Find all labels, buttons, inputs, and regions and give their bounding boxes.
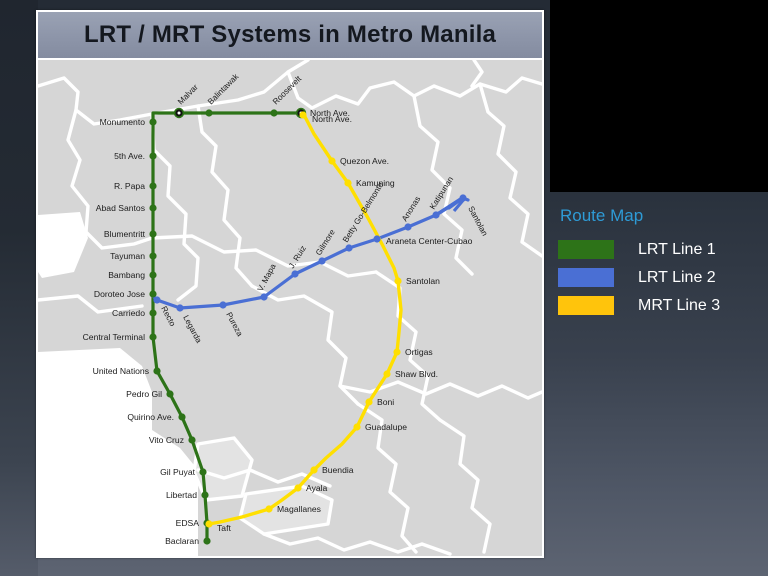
station-label: North Ave. [312,114,352,124]
station-label: Boni [377,397,394,407]
station-dot[interactable] [310,466,317,473]
station-dot[interactable] [294,484,301,491]
station-dot[interactable] [149,309,156,316]
station-dot[interactable] [176,304,183,311]
station-dot[interactable] [149,204,156,211]
station-dot[interactable] [219,301,226,308]
station-label: Abad Santos [96,203,145,213]
station-label: Gil Puyat [160,467,195,477]
station-dot[interactable] [205,109,212,116]
station-dot[interactable] [149,118,156,125]
station-dot[interactable] [373,235,380,242]
station-label: Buendia [322,465,354,475]
station-label: Guadalupe [365,422,407,432]
station-label: Monumento [100,117,146,127]
station-dot[interactable] [299,111,306,118]
station-dot[interactable] [404,223,411,230]
station-dot[interactable] [344,179,351,186]
station-label: Kamuning [356,178,395,188]
station-interchange-core [178,112,181,115]
legend-rows: LRT Line 1LRT Line 2MRT Line 3 [558,240,758,315]
station-dot[interactable] [153,296,160,303]
station-dot[interactable] [149,182,156,189]
station-dot[interactable] [149,252,156,259]
legend-label-mrt-line-3: MRT Line 3 [638,297,720,315]
station-label: Quezon Ave. [340,156,389,166]
station-label: Taft [217,523,231,533]
route-map-image[interactable]: North Ave.RooseveltBalintawakMalvarMonum… [38,60,542,556]
station-label: United Nations [93,366,149,376]
station-dot[interactable] [201,491,208,498]
station-label: Shaw Blvd. [395,369,438,379]
station-label: Ayala [306,483,328,493]
station-dot[interactable] [345,244,352,251]
legend-item-lrt-line-2[interactable]: LRT Line 2 [558,268,758,287]
station-dot[interactable] [203,537,210,544]
station-label: 5th Ave. [114,151,145,161]
station-label: R. Papa [114,181,145,191]
station-label: Magallanes [277,504,321,514]
black-panel [550,0,768,192]
station-label: Carriedo [112,308,145,318]
title-bar: LRT / MRT Systems in Metro Manila [38,12,542,60]
legend-item-lrt-line-1[interactable]: LRT Line 1 [558,240,758,259]
station-dot[interactable] [260,293,267,300]
station-dot[interactable] [459,194,466,201]
station-label: EDSA [176,518,200,528]
station-label: Vito Cruz [149,435,184,445]
station-label: Quirino Ave. [127,412,174,422]
station-label: Santolan [406,276,440,286]
station-dot[interactable] [328,157,335,164]
legend-item-mrt-line-3[interactable]: MRT Line 3 [558,296,758,315]
station-dot[interactable] [394,277,401,284]
legend-label-lrt-line-2: LRT Line 2 [638,269,716,287]
station-dot[interactable] [149,230,156,237]
slide-canvas: LRT / MRT Systems in Metro Manila [0,0,768,576]
station-dot[interactable] [383,370,390,377]
legend-label-lrt-line-1: LRT Line 1 [638,241,716,259]
station-dot[interactable] [353,423,360,430]
station-dot[interactable] [205,520,212,527]
station-label: Central Terminal [83,332,145,342]
map-svg: North Ave.RooseveltBalintawakMalvarMonum… [38,60,542,556]
station-dot[interactable] [149,290,156,297]
station-dot[interactable] [318,257,325,264]
legend-swatch-mrt-line-3 [558,296,614,315]
page-title: LRT / MRT Systems in Metro Manila [84,21,496,49]
station-label: Tayuman [110,251,145,261]
station-dot[interactable] [270,109,277,116]
station-label: Doroteo Jose [94,289,145,299]
station-dot[interactable] [265,505,272,512]
station-label: Bambang [108,270,145,280]
station-dot[interactable] [188,436,195,443]
station-label: Blumentritt [104,229,146,239]
station-dot[interactable] [432,211,439,218]
station-label: Baclaran [165,536,199,546]
station-dot[interactable] [365,398,372,405]
station-label: Araneta Center-Cubao [386,236,473,246]
station-label: Libertad [166,490,197,500]
station-dot[interactable] [199,468,206,475]
legend: Route Map LRT Line 1LRT Line 2MRT Line 3 [558,206,758,324]
station-dot[interactable] [393,348,400,355]
station-dot[interactable] [291,270,298,277]
left-background-band [0,0,38,576]
legend-swatch-lrt-line-2 [558,268,614,287]
station-label: Ortigas [405,347,433,357]
station-dot[interactable] [149,333,156,340]
station-dot[interactable] [153,367,160,374]
station-dot[interactable] [149,271,156,278]
station-dot[interactable] [149,152,156,159]
legend-heading: Route Map [560,206,758,226]
station-label: Pedro Gil [126,389,162,399]
station-dot[interactable] [166,390,173,397]
legend-swatch-lrt-line-1 [558,240,614,259]
station-dot[interactable] [178,413,185,420]
